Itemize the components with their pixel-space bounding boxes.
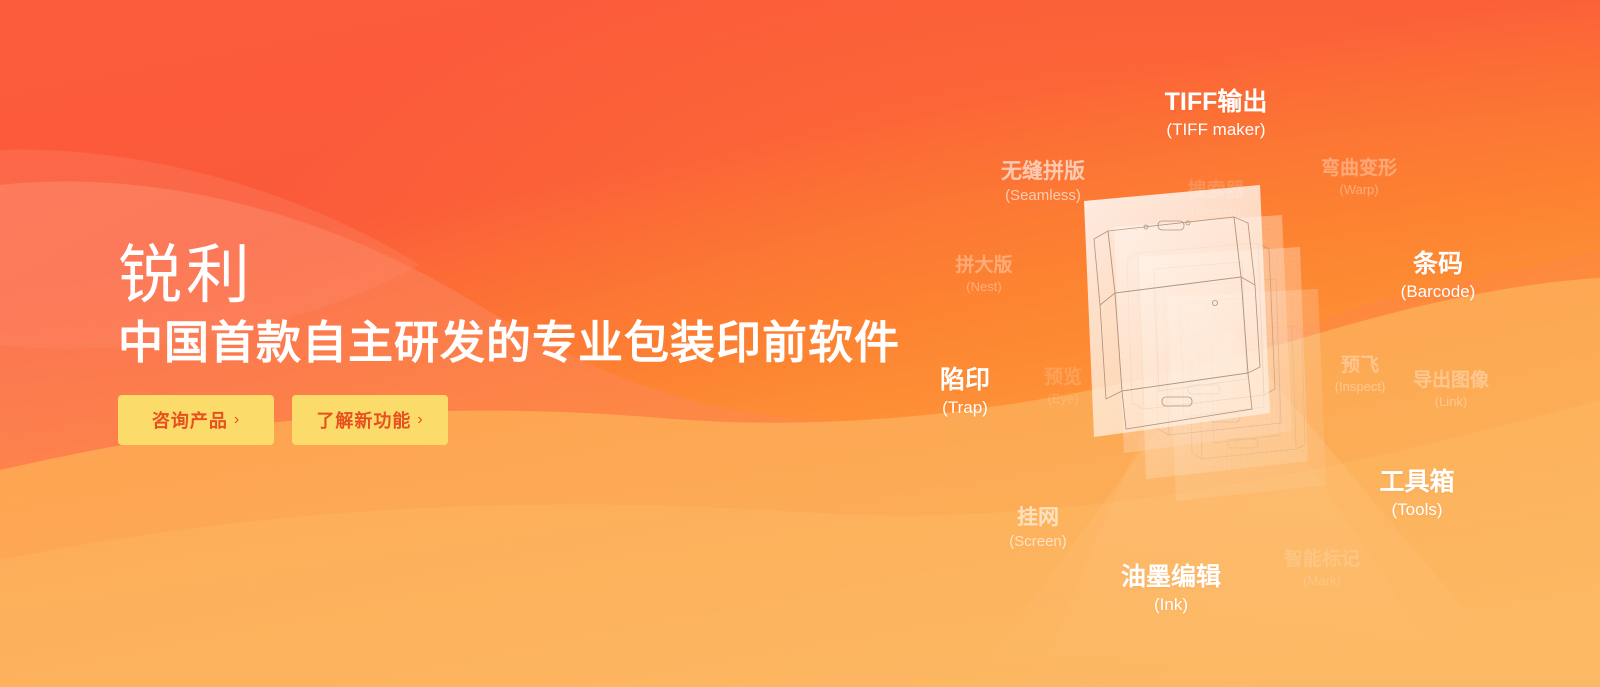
learn-new-features-label: 了解新功能 [316,407,411,433]
learn-new-features-button[interactable]: 了解新功能 › [292,395,448,445]
feature-label-en: (Search) [1187,204,1244,219]
feature-label-cn: 预飞 [1335,355,1386,377]
feature-label-en: (Screen) [1009,533,1067,551]
chevron-right-icon: › [234,411,240,429]
page-title: 中国首款自主研发的专业包装印前软件 [118,318,900,368]
feature-label-trap: 陷印(Trap) [940,366,990,418]
feature-label-cn: 导出图像 [1413,370,1489,392]
feature-label-cn: 智能标记 [1284,549,1360,571]
feature-label-cn: 陷印 [940,366,990,396]
feature-label-en: (Ink) [1121,595,1221,615]
feature-label-inspect: 预飞(Inspect) [1335,355,1386,395]
feature-label-link: 导出图像(Link) [1413,370,1489,410]
consult-product-button[interactable]: 咨询产品 › [118,395,274,445]
chevron-right-icon: › [417,411,423,429]
feature-label-en: (Inspect) [1335,379,1386,394]
feature-label-warp: 弯曲变形(Warp) [1321,158,1397,198]
feature-label-ink: 油墨编辑(Ink) [1121,563,1221,615]
feature-label-en: (Link) [1413,394,1489,409]
feature-label-en: (Eye) [1044,391,1082,406]
feature-label-seamless: 无缝拼版(Seamless) [1001,160,1085,204]
feature-label-tiff-maker: TIFF输出(TIFF maker) [1165,88,1268,140]
feature-label-cn: 油墨编辑 [1121,563,1221,593]
feature-label-en: (Trap) [940,398,990,418]
feature-label-cn: 拼大版 [955,255,1012,277]
feature-label-cn: 预览 [1044,367,1082,389]
dieline-panel-1 [1084,185,1270,437]
feature-label-search: 搜索器(Search) [1187,180,1244,220]
feature-label-en: (Barcode) [1401,282,1476,302]
feature-label-tools: 工具箱(Tools) [1379,468,1454,520]
feature-label-en: (Nest) [955,279,1012,294]
feature-label-eye: 预览(Eye) [1044,367,1082,407]
feature-label-nest: 拼大版(Nest) [955,255,1012,295]
feature-label-en: (Warp) [1321,182,1397,197]
feature-label-cn: TIFF输出 [1165,88,1268,118]
feature-label-cn: 工具箱 [1379,468,1454,498]
feature-label-en: (Tools) [1379,500,1454,520]
feature-label-cn: 无缝拼版 [1001,160,1085,185]
feature-label-en: (Mark) [1284,573,1360,588]
hero-banner: 锐利 中国首款自主研发的专业包装印前软件 咨询产品 › 了解新功能 › TIFF… [0,0,1600,687]
feature-label-cn: 弯曲变形 [1321,158,1397,180]
feature-label-screen: 挂网(Screen) [1009,506,1067,550]
feature-label-cn: 搜索器 [1187,180,1244,202]
brand-title: 锐利 [118,243,900,308]
feature-label-en: (Seamless) [1001,187,1085,205]
dieline-layers-svg [1080,185,1380,515]
packaging-dieline-artwork [1080,185,1380,515]
hero-copy: 锐利 中国首款自主研发的专业包装印前软件 咨询产品 › 了解新功能 › [118,243,900,445]
feature-label-cn: 条码 [1401,250,1476,280]
cta-button-row: 咨询产品 › 了解新功能 › [118,395,900,445]
feature-label-en: (TIFF maker) [1165,120,1268,140]
feature-label-mark: 智能标记(Mark) [1284,549,1360,589]
feature-label-barcode: 条码(Barcode) [1401,250,1476,302]
feature-label-cn: 挂网 [1009,506,1067,531]
consult-product-label: 咨询产品 [152,407,228,433]
